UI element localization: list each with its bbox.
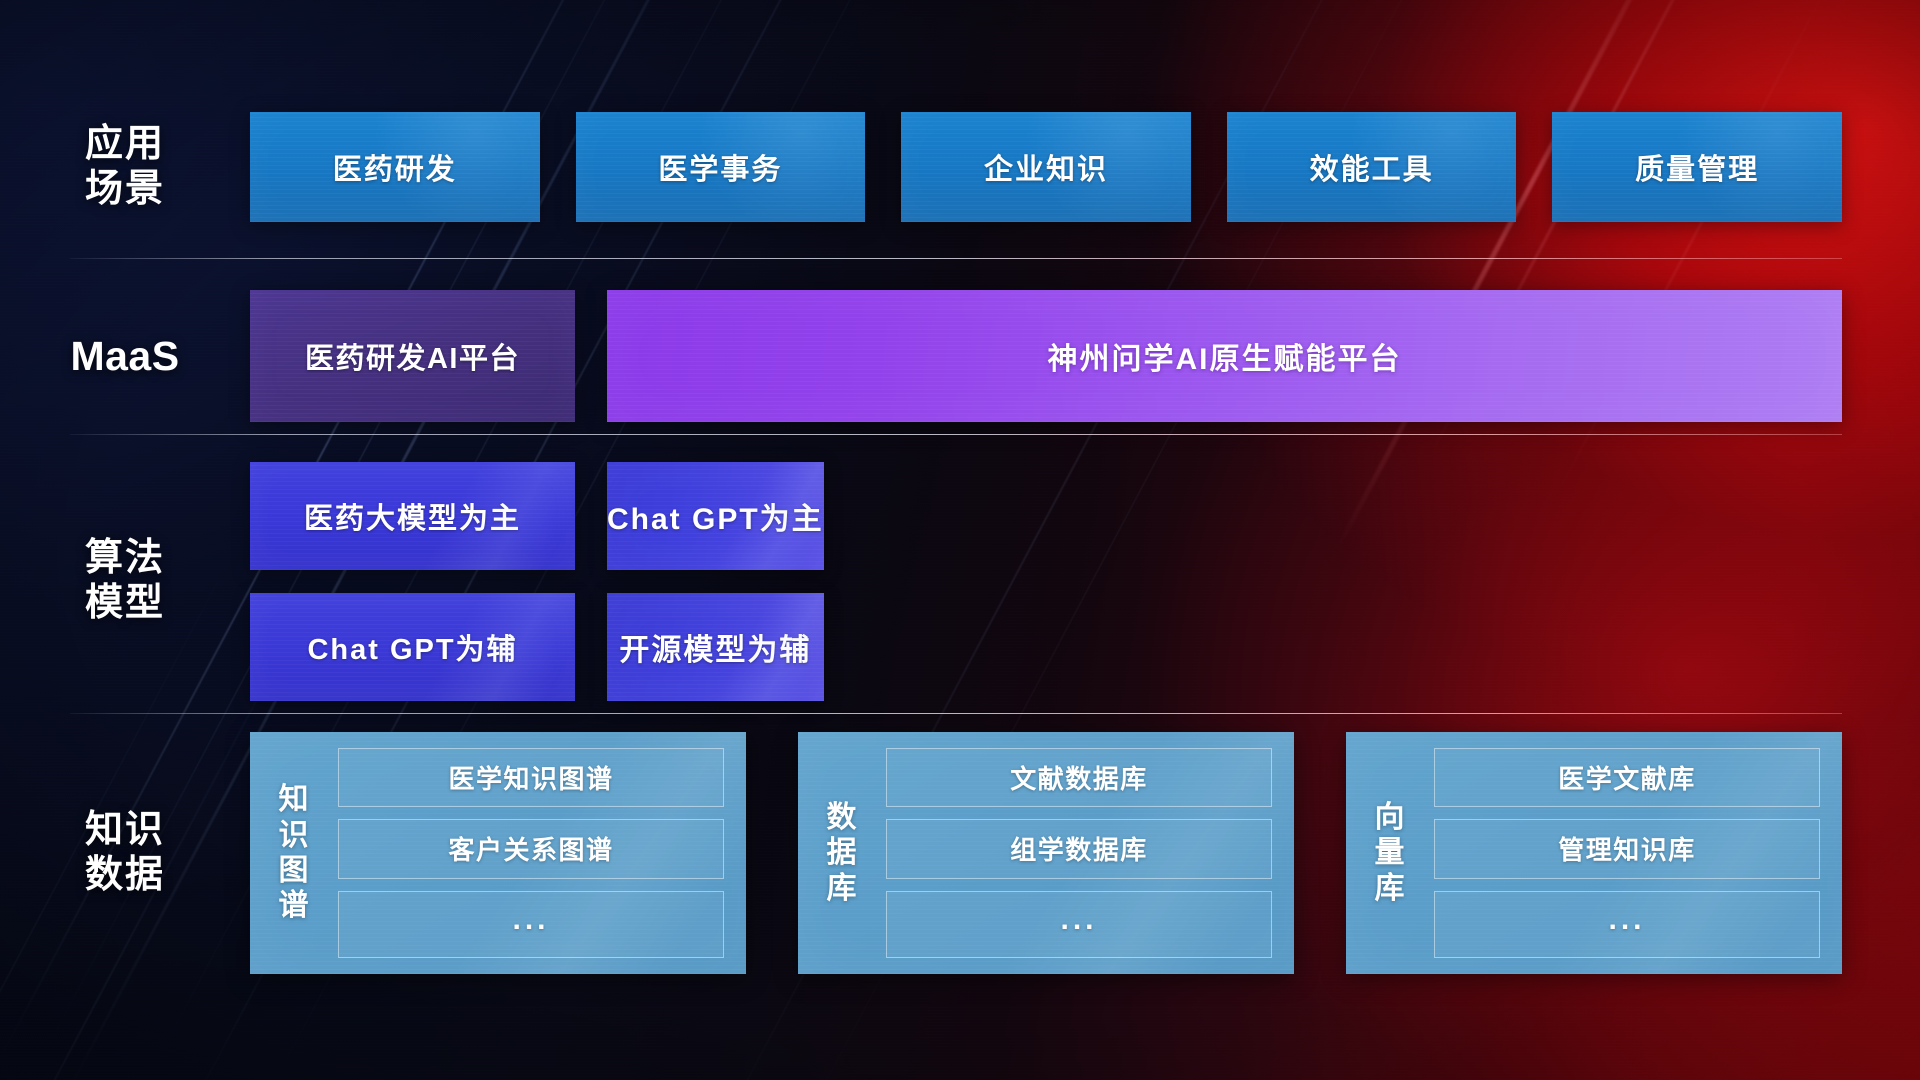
divider-applications-maas [70,258,1842,259]
maas-body: 医药研发AI平台 神州问学AI原生赋能平台 [250,290,1920,422]
row-label-knowledge-data: 知识 数据 [0,808,250,898]
knowledge-item-literature-database[interactable]: 文献数据库 [886,748,1272,807]
application-scenarios-track: 医药研发 医学事务 企业知识 效能工具 质量管理 [250,112,1920,222]
app-box-enterprise-knowledge[interactable]: 企业知识 [901,112,1191,222]
knowledge-panel-title-knowledge-graph: 知识图谱 [268,748,320,958]
row-label-maas: MaaS [0,332,250,380]
knowledge-panel-knowledge-graph[interactable]: 知识图谱 医学知识图谱 客户关系图谱 ... [250,732,746,974]
application-scenarios-body: 医药研发 医学事务 企业知识 效能工具 质量管理 [250,112,1920,222]
knowledge-panel-title-vector-store: 向量库 [1364,748,1416,958]
row-label-line-1: 算法 [0,536,250,581]
knowledge-item-more-vector-store[interactable]: ... [1434,891,1820,958]
app-box-medical-affairs[interactable]: 医学事务 [576,112,866,222]
knowledge-data-track: 知识图谱 医学知识图谱 客户关系图谱 ... 数据库 文献数据库 组学数据库 .… [250,732,1920,974]
app-box-quality-management[interactable]: 质量管理 [1552,112,1842,222]
algorithm-row-secondary: Chat GPT为辅 开源模型为辅 [250,593,824,701]
row-maas: MaaS 医药研发AI平台 神州问学AI原生赋能平台 [0,290,1920,422]
maas-track: 医药研发AI平台 神州问学AI原生赋能平台 [250,290,1920,422]
row-label-line-1: 知识 [0,808,250,853]
algorithm-models-track: 医药大模型为主 Chat GPT为主 Chat GPT为辅 开源模型为辅 [250,462,902,701]
knowledge-item-medical-literature-store[interactable]: 医学文献库 [1434,748,1820,807]
knowledge-items-knowledge-graph: 医学知识图谱 客户关系图谱 ... [338,748,724,958]
knowledge-panel-database[interactable]: 数据库 文献数据库 组学数据库 ... [798,732,1294,974]
algo-box-pharma-llm-primary[interactable]: 医药大模型为主 [250,462,575,570]
divider-maas-algorithms [70,434,1842,435]
maas-box-drug-rd-ai-platform[interactable]: 医药研发AI平台 [250,290,575,422]
algo-box-chatgpt-secondary[interactable]: Chat GPT为辅 [250,593,575,701]
app-box-efficiency-tools[interactable]: 效能工具 [1227,112,1517,222]
row-label-algorithm-models: 算法 模型 [0,536,250,626]
knowledge-panel-vector-store[interactable]: 向量库 医学文献库 管理知识库 ... [1346,732,1842,974]
knowledge-item-customer-relation-graph[interactable]: 客户关系图谱 [338,819,724,878]
knowledge-item-more-database[interactable]: ... [886,891,1272,958]
knowledge-item-more-knowledge-graph[interactable]: ... [338,891,724,958]
algorithm-models-body: 医药大模型为主 Chat GPT为主 Chat GPT为辅 开源模型为辅 [250,462,1920,701]
row-label-line-2: 场景 [0,167,250,212]
knowledge-item-omics-database[interactable]: 组学数据库 [886,819,1272,878]
row-algorithm-models: 算法 模型 医药大模型为主 Chat GPT为主 Chat GPT为辅 开源模型… [0,462,1920,700]
algo-box-opensource-secondary[interactable]: 开源模型为辅 [607,593,824,701]
algo-box-chatgpt-primary[interactable]: Chat GPT为主 [607,462,824,570]
knowledge-items-vector-store: 医学文献库 管理知识库 ... [1434,748,1820,958]
maas-box-shenzhou-wenxue-platform[interactable]: 神州问学AI原生赋能平台 [607,290,1842,422]
algorithm-row-primary: 医药大模型为主 Chat GPT为主 [250,462,824,570]
row-label-line-1: 应用 [0,122,250,167]
knowledge-item-medical-knowledge-graph[interactable]: 医学知识图谱 [338,748,724,807]
row-label-line-2: 数据 [0,853,250,898]
row-label-application-scenarios: 应用 场景 [0,122,250,212]
app-box-drug-rd[interactable]: 医药研发 [250,112,540,222]
knowledge-items-database: 文献数据库 组学数据库 ... [886,748,1272,958]
row-knowledge-data: 知识 数据 知识图谱 医学知识图谱 客户关系图谱 ... 数据库 [0,732,1920,974]
row-application-scenarios: 应用 场景 医药研发 医学事务 企业知识 效能工具 质量管理 [0,112,1920,222]
knowledge-data-body: 知识图谱 医学知识图谱 客户关系图谱 ... 数据库 文献数据库 组学数据库 .… [250,732,1920,974]
architecture-diagram: 应用 场景 医药研发 医学事务 企业知识 效能工具 质量管理 MaaS 医药研发… [0,0,1920,1080]
knowledge-item-management-knowledge-store[interactable]: 管理知识库 [1434,819,1820,878]
row-label-line-2: 模型 [0,581,250,626]
divider-algorithms-knowledge [70,713,1842,714]
knowledge-panel-title-database: 数据库 [816,748,868,958]
